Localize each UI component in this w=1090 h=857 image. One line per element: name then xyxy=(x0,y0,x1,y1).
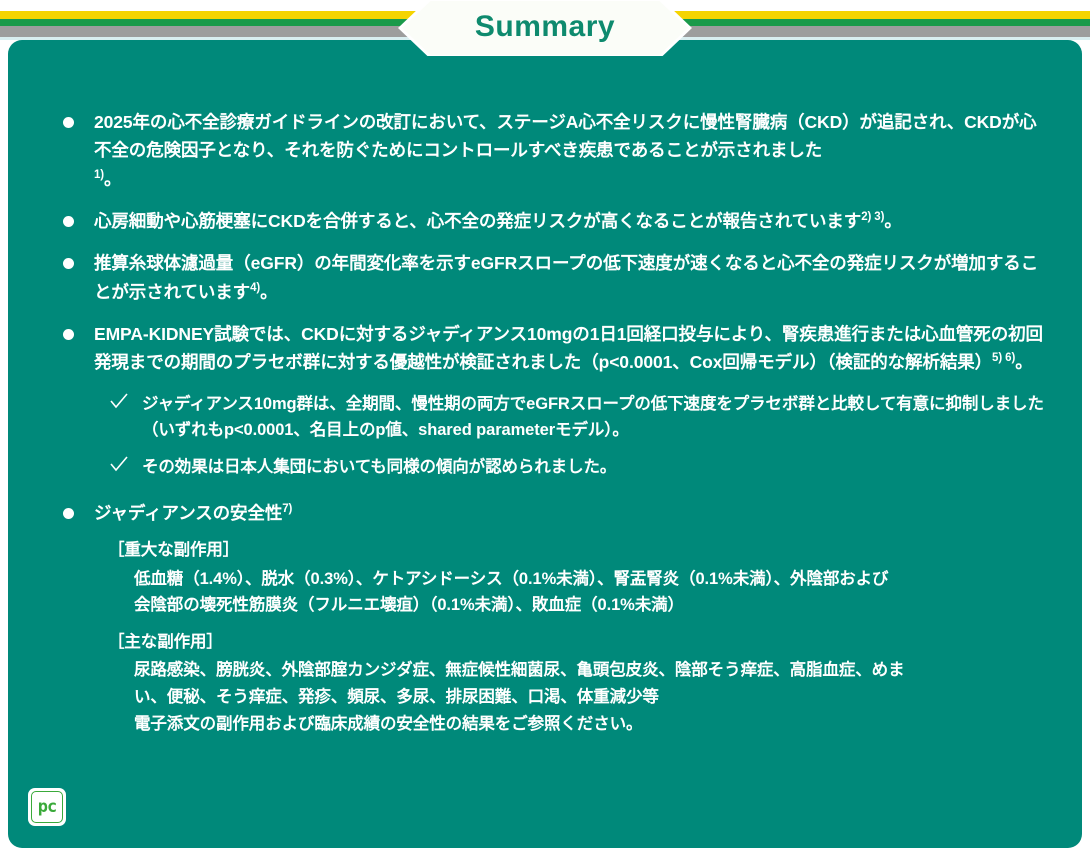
bullet-tail: 。 xyxy=(104,169,121,189)
bullet-text: 推算糸球体濾過量（eGFR）の年間変化率を示すeGFRスロープの低下速度が速くな… xyxy=(94,253,1038,301)
reference-marker: 4) xyxy=(250,282,260,294)
bullet-empa-kidney: EMPA-KIDNEY試験では、CKDに対するジャディアンス10mgの1日1回経… xyxy=(60,320,1048,377)
bullet-dot-icon xyxy=(63,258,74,269)
bullet-dot-icon xyxy=(63,329,74,340)
pc-logo-text: pc xyxy=(38,799,56,816)
bullet-tail: 。 xyxy=(260,282,277,302)
check-japanese-population: その効果は日本人集団においても同様の傾向が認められました。 xyxy=(108,454,1048,481)
page-title: Summary xyxy=(475,12,615,44)
section-line: 会陰部の壊死性筋膜炎（フルニエ壊疽）（0.1%未満）、敗血症（0.1%未満） xyxy=(134,592,1048,619)
bullet-guideline-2025: 2025年の心不全診療ガイドラインの改訂において、ステージA心不全リスクに慢性腎… xyxy=(60,108,1048,193)
reference-marker: 1) xyxy=(94,169,104,181)
check-text: ジャディアンス10mg群は、全期間、慢性期の両方でeGFRスロープの低下速度をプ… xyxy=(142,395,1044,440)
bullet-dot-icon xyxy=(63,508,74,519)
reference-marker: 2) 3) xyxy=(861,211,884,223)
section-body: 尿路感染、膀胱炎、外陰部腟カンジダ症、無症候性細菌尿、亀頭包皮炎、陰部そう痒症、… xyxy=(134,657,1048,737)
title-hexagon: Summary xyxy=(402,1,688,55)
pc-logo-badge: pc xyxy=(28,788,66,826)
checkmark-icon xyxy=(110,393,128,411)
bullet-dot-icon xyxy=(63,117,74,128)
bullet-text: ジャディアンスの安全性 xyxy=(94,503,282,523)
section-body: 低血糖（1.4%）、脱水（0.3%）、ケトアシドーシス（0.1%未満）、腎盂腎炎… xyxy=(134,566,1048,619)
check-text: その効果は日本人集団においても同様の傾向が認められました。 xyxy=(142,458,616,476)
reference-marker: 5) 6) xyxy=(992,353,1015,365)
section-line: 電子添文の副作用および臨床成績の安全性の結果をご参照ください。 xyxy=(134,711,1048,738)
bullet-tail: 。 xyxy=(1015,352,1032,372)
section-line: 低血糖（1.4%）、脱水（0.3%）、ケトアシドーシス（0.1%未満）、腎盂腎炎… xyxy=(134,566,1048,593)
summary-panel: 2025年の心不全診療ガイドラインの改訂において、ステージA心不全リスクに慢性腎… xyxy=(8,40,1082,848)
bullet-dot-icon xyxy=(63,216,74,227)
checkmark-icon xyxy=(110,456,128,474)
bullet-af-mi-ckd-risk: 心房細動や心筋梗塞にCKDを合併すると、心不全の発症リスクが高くなることが報告さ… xyxy=(60,207,1048,235)
section-line: い、便秘、そう痒症、発疹、頻尿、多尿、排尿困難、口渇、体重減少等 xyxy=(134,684,1048,711)
common-adverse-reactions: ［主な副作用］ 尿路感染、膀胱炎、外陰部腟カンジダ症、無症候性細菌尿、亀頭包皮炎… xyxy=(108,629,1048,738)
bullet-tail: 。 xyxy=(884,211,901,231)
summary-slide: Summary 2025年の心不全診療ガイドラインの改訂において、ステージA心不… xyxy=(0,0,1090,857)
bullet-text: 2025年の心不全診療ガイドラインの改訂において、ステージA心不全リスクに慢性腎… xyxy=(94,108,1048,165)
section-heading: ［主な副作用］ xyxy=(108,629,1048,655)
section-line: 尿路感染、膀胱炎、外陰部腟カンジダ症、無症候性細菌尿、亀頭包皮炎、陰部そう痒症、… xyxy=(134,657,1048,684)
check-egfr-slope-suppression: ジャディアンス10mg群は、全期間、慢性期の両方でeGFRスロープの低下速度をプ… xyxy=(108,391,1048,444)
bullet-text: EMPA-KIDNEY試験では、CKDに対するジャディアンス10mgの1日1回経… xyxy=(94,324,1043,372)
bullet-safety: ジャディアンスの安全性7) xyxy=(60,499,1048,527)
bullet-egfr-slope: 推算糸球体濾過量（eGFR）の年間変化率を示すeGFRスロープの低下速度が速くな… xyxy=(60,249,1048,306)
bullet-text: 心房細動や心筋梗塞にCKDを合併すると、心不全の発症リスクが高くなることが報告さ… xyxy=(94,211,861,231)
section-heading: ［重大な副作用］ xyxy=(108,537,1048,563)
pc-logo-icon: pc xyxy=(31,791,63,823)
serious-adverse-reactions: ［重大な副作用］ 低血糖（1.4%）、脱水（0.3%）、ケトアシドーシス（0.1… xyxy=(108,537,1048,619)
summary-content: 2025年の心不全診療ガイドラインの改訂において、ステージA心不全リスクに慢性腎… xyxy=(60,108,1048,748)
reference-marker: 7) xyxy=(282,503,292,515)
